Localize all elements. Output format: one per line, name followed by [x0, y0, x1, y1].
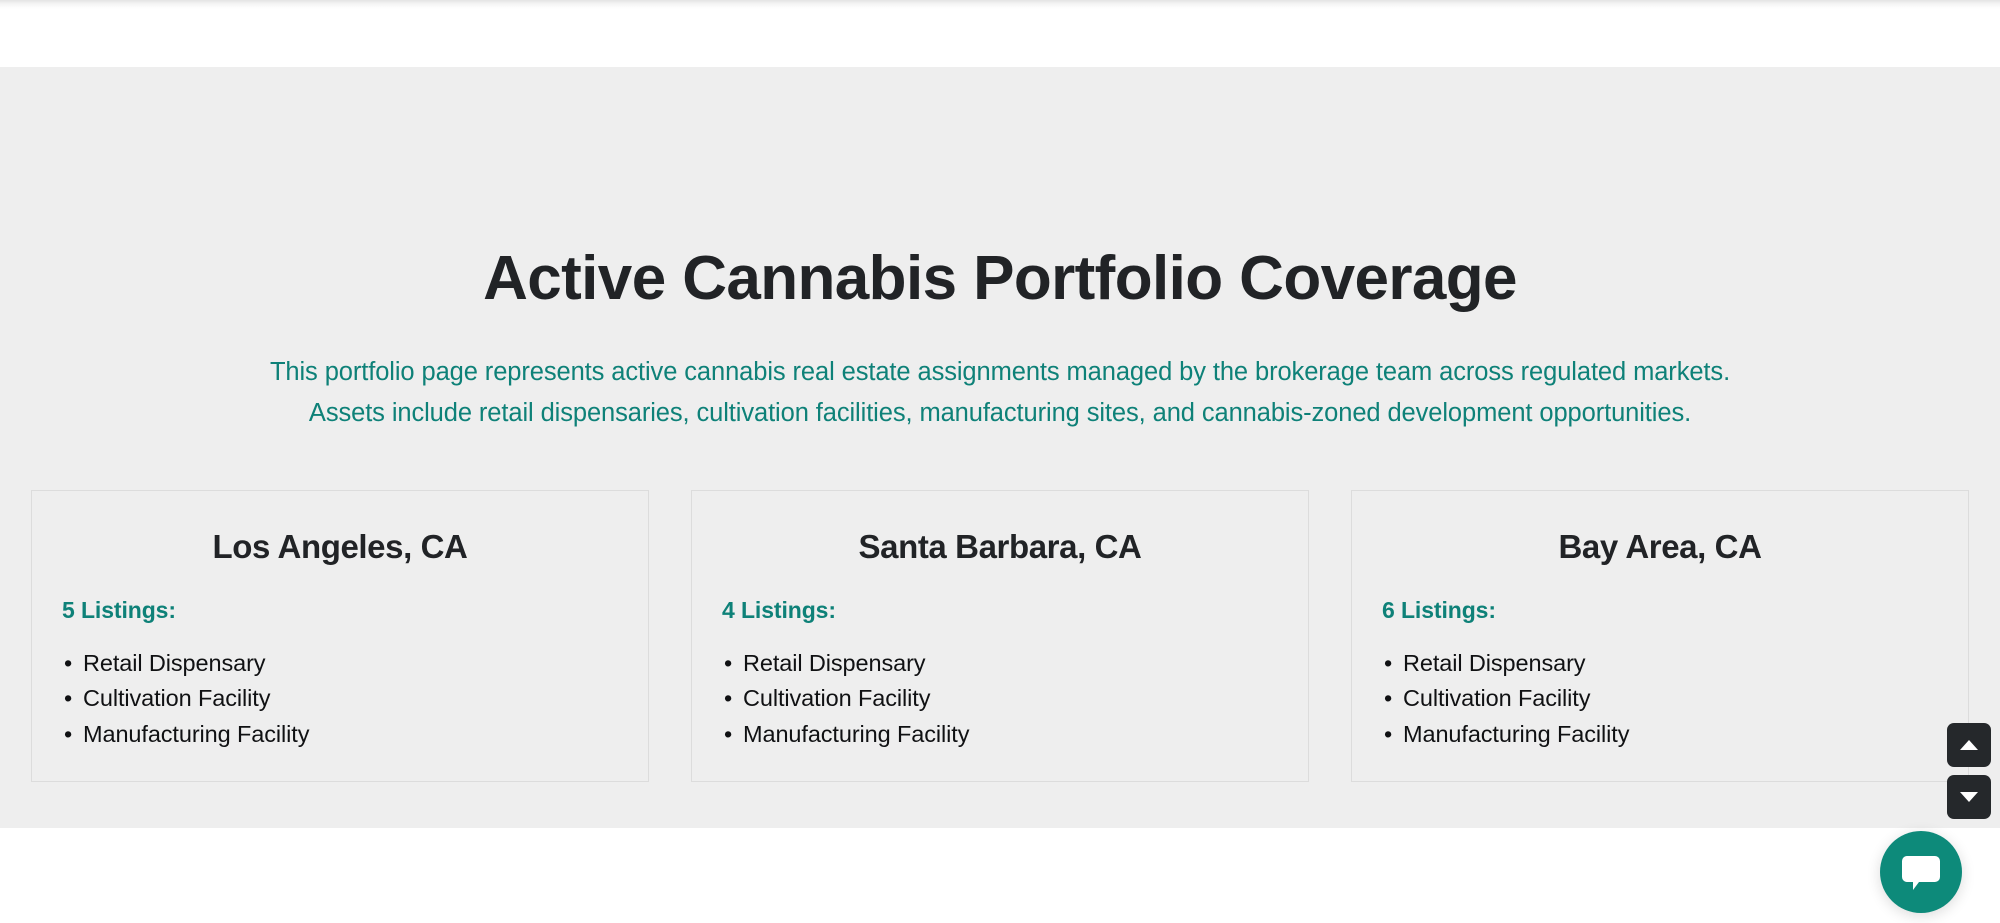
list-item-label: Cultivation Facility [743, 685, 930, 711]
bullet-icon: • [64, 646, 72, 682]
list-item: • Cultivation Facility [1382, 681, 1938, 717]
page-root: Active Cannabis Portfolio Coverage This … [0, 0, 2000, 923]
scroll-up-button[interactable] [1947, 723, 1991, 767]
list-item-label: Manufacturing Facility [1403, 721, 1629, 747]
market-card-list: • Retail Dispensary • Cultivation Facili… [722, 646, 1278, 753]
list-item-label: Manufacturing Facility [743, 721, 969, 747]
bullet-icon: • [1384, 717, 1392, 753]
list-item: • Manufacturing Facility [62, 717, 618, 753]
list-item-label: Cultivation Facility [83, 685, 270, 711]
bullet-icon: • [724, 717, 732, 753]
bullet-icon: • [1384, 681, 1392, 717]
bullet-icon: • [724, 646, 732, 682]
portfolio-section: Active Cannabis Portfolio Coverage This … [0, 67, 2000, 828]
triangle-up-icon [1960, 740, 1978, 750]
scroll-controls [1947, 723, 1991, 819]
bullet-icon: • [64, 681, 72, 717]
page-subtitle: This portfolio page represents active ca… [0, 352, 2000, 434]
market-card-title: Los Angeles, CA [62, 527, 618, 567]
bullet-icon: • [724, 681, 732, 717]
market-card-listing-count: 5 Listings: [62, 597, 618, 624]
bullet-icon: • [64, 717, 72, 753]
market-card-listing-count: 4 Listings: [722, 597, 1278, 624]
market-card-listing-count: 6 Listings: [1382, 597, 1938, 624]
market-card-title: Santa Barbara, CA [722, 527, 1278, 567]
chat-widget-button[interactable] [1880, 831, 1962, 913]
page-subtitle-line-1: This portfolio page represents active ca… [0, 352, 2000, 393]
bullet-icon: • [1384, 646, 1392, 682]
page-subtitle-line-2: Assets include retail dispensaries, cult… [0, 393, 2000, 434]
list-item-label: Manufacturing Facility [83, 721, 309, 747]
top-white-band [0, 0, 2000, 67]
market-card-grid: Los Angeles, CA 5 Listings: • Retail Dis… [31, 490, 1969, 782]
list-item: • Manufacturing Facility [1382, 717, 1938, 753]
triangle-down-icon [1960, 792, 1978, 802]
market-card-list: • Retail Dispensary • Cultivation Facili… [62, 646, 618, 753]
market-card[interactable]: Bay Area, CA 6 Listings: • Retail Dispen… [1351, 490, 1969, 782]
list-item: • Manufacturing Facility [722, 717, 1278, 753]
list-item-label: Retail Dispensary [83, 650, 265, 676]
list-item: • Cultivation Facility [62, 681, 618, 717]
list-item: • Retail Dispensary [1382, 646, 1938, 682]
page-title: Active Cannabis Portfolio Coverage [0, 244, 2000, 313]
list-item-label: Retail Dispensary [743, 650, 925, 676]
list-item: • Retail Dispensary [62, 646, 618, 682]
market-card-title: Bay Area, CA [1382, 527, 1938, 567]
list-item: • Retail Dispensary [722, 646, 1278, 682]
chat-bubble-icon [1900, 852, 1942, 892]
list-item-label: Cultivation Facility [1403, 685, 1590, 711]
market-card[interactable]: Los Angeles, CA 5 Listings: • Retail Dis… [31, 490, 649, 782]
list-item: • Cultivation Facility [722, 681, 1278, 717]
market-card[interactable]: Santa Barbara, CA 4 Listings: • Retail D… [691, 490, 1309, 782]
list-item-label: Retail Dispensary [1403, 650, 1585, 676]
market-card-list: • Retail Dispensary • Cultivation Facili… [1382, 646, 1938, 753]
scroll-down-button[interactable] [1947, 775, 1991, 819]
